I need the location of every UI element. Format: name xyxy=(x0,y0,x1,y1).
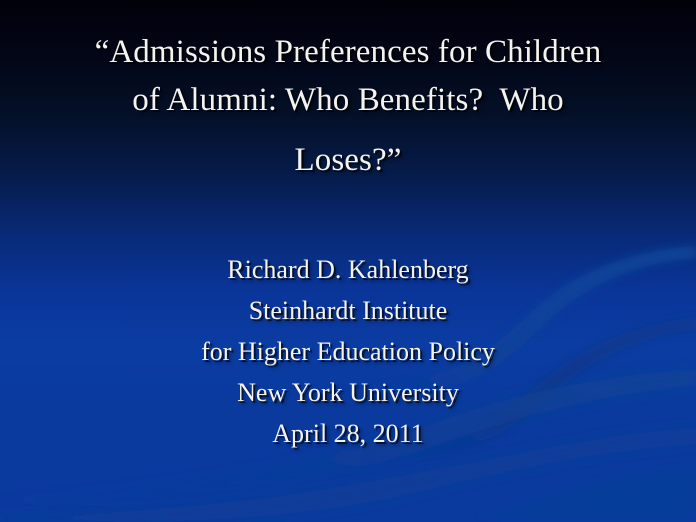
slide-subtitle: Richard D. Kahlenberg Steinhardt Institu… xyxy=(0,249,696,454)
title-line-2: of Alumni: Who Benefits? Who xyxy=(28,76,668,124)
slide-title: “Admissions Preferences for Children of … xyxy=(0,28,696,184)
title-line-1: “Admissions Preferences for Children xyxy=(28,28,668,76)
title-line-3: Loses?” xyxy=(28,136,668,184)
title-slide: “Admissions Preferences for Children of … xyxy=(0,0,696,522)
subtitle-institution: New York University xyxy=(30,372,666,413)
subtitle-presenter: Richard D. Kahlenberg xyxy=(30,249,666,290)
subtitle-organization-line-1: Steinhardt Institute xyxy=(30,290,666,331)
subtitle-organization-line-2: for Higher Education Policy xyxy=(30,331,666,372)
subtitle-date: April 28, 2011 xyxy=(30,413,666,454)
